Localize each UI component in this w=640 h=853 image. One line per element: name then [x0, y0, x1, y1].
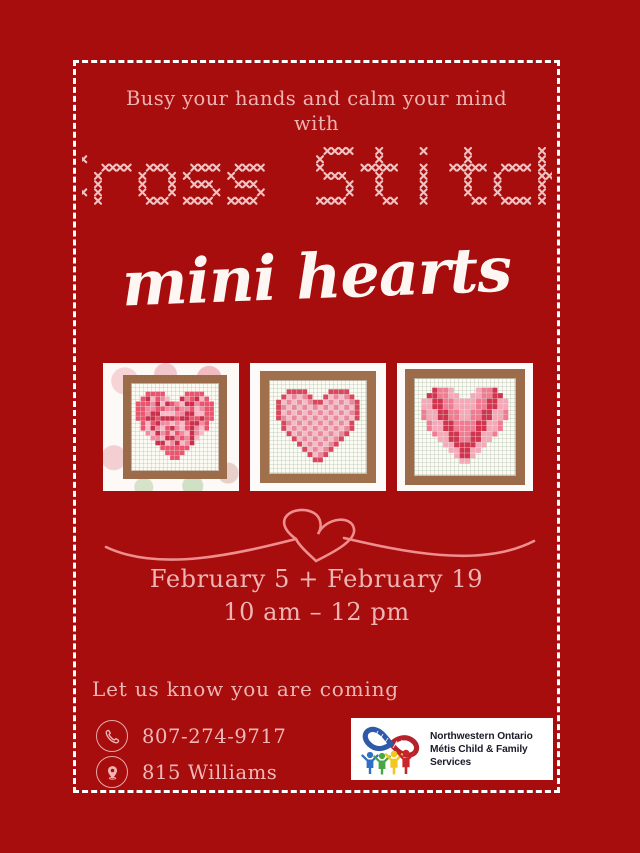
gallery-item-1 — [103, 363, 239, 491]
frame-inner-shadow — [131, 383, 219, 471]
contact-row-phone[interactable]: 807-274-9717 — [96, 718, 346, 754]
headline-line2: with — [73, 111, 560, 136]
address: 815 Williams — [142, 761, 277, 784]
headline-block: Busy your hands and calm your mind with — [73, 86, 560, 136]
schedule-dates: February 5 + February 19 — [73, 563, 560, 596]
wooden-frame — [260, 371, 376, 483]
frame-inner-shadow — [414, 378, 516, 476]
phone-number: 807-274-9717 — [142, 725, 286, 748]
figure-blue — [362, 752, 377, 774]
wooden-frame — [405, 369, 525, 485]
contact-list: 807-274-9717 815 Williams — [96, 718, 346, 790]
gallery-row — [103, 363, 533, 491]
gallery-item-3 — [397, 363, 533, 491]
headline-line1: Busy your hands and calm your mind — [126, 87, 507, 110]
cross-stitch-title-glyphs — [82, 142, 552, 217]
schedule-time: 10 am – 12 pm — [73, 596, 560, 629]
organization-logo: Northwestern Ontario Métis Child & Famil… — [351, 718, 553, 780]
logo-line-1: Northwestern Ontario — [430, 730, 547, 743]
frame-inner-shadow — [269, 380, 367, 474]
schedule-block: February 5 + February 19 10 am – 12 pm — [73, 563, 560, 629]
wooden-frame — [123, 375, 227, 479]
rsvp-label: Let us know you are coming — [92, 677, 399, 701]
phone-icon — [96, 720, 128, 752]
poster: Busy your hands and calm your mind with … — [0, 0, 640, 853]
location-pin-icon — [96, 756, 128, 788]
logo-line-2: Métis Child & Family Services — [430, 743, 547, 769]
metis-infinity-logo-icon — [357, 722, 425, 776]
contact-row-address[interactable]: 815 Williams — [96, 754, 346, 790]
heart-divider — [100, 503, 540, 565]
cross-stitch-title — [73, 142, 560, 217]
logo-text-block: Northwestern Ontario Métis Child & Famil… — [430, 730, 547, 769]
gallery-item-2 — [250, 363, 386, 491]
heart-divider-svg — [100, 503, 540, 565]
